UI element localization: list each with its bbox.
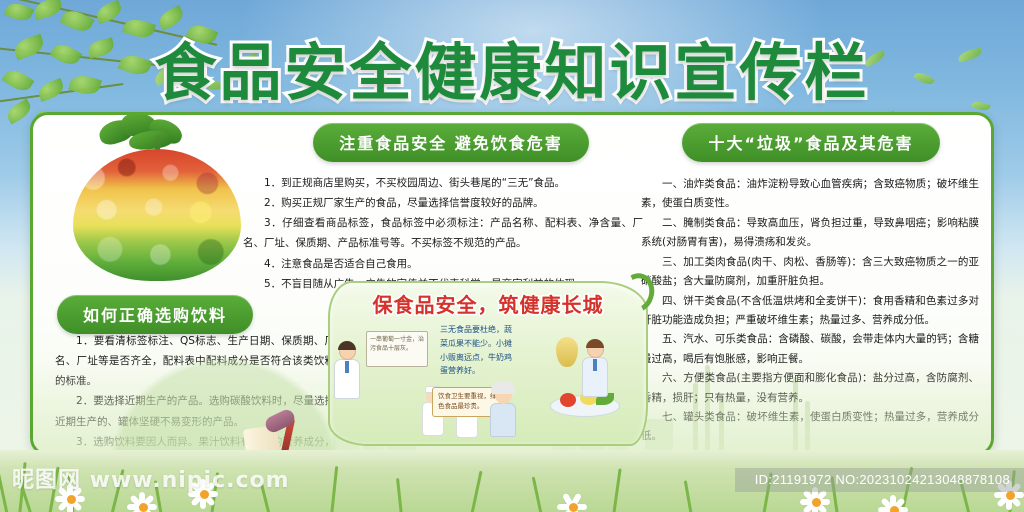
section1-body: 1．到正规商店里购买，不买校园周边、街头巷尾的“三无”食品。 2．购买正规厂家生… xyxy=(243,173,643,294)
section3-heading: 十大“垃圾”食品及其危害 xyxy=(682,123,939,162)
section1-item: 4．注意食品是否适合自己食用。 xyxy=(243,254,643,274)
left-column: 注重食品安全 避免饮食危害 1．到正规商店里购买，不买校园周边、街头巷尾的“三无… xyxy=(51,123,651,162)
section3-item: 六、方便类食品(主要指方便面和膨化食品)：盐分过高，含防腐剂、香精，损肝；只有热… xyxy=(641,369,979,408)
illustration-title: 保食品安全，筑健康长城 xyxy=(328,289,648,318)
section3-item: 四、饼干类食品(不含低温烘烤和全麦饼干)：食用香精和色素过多对肝脏功能造成负担；… xyxy=(641,292,979,331)
doctor-figure-left xyxy=(332,343,362,401)
section3-body: 一、油炸类食品：油炸淀粉导致心血管疾病；含致癌物质；破坏维生素，使蛋白质变性。 … xyxy=(641,175,979,456)
section1-item: 2．购买正规厂家生产的食品，尽量选择信誉度较好的品牌。 xyxy=(243,193,643,213)
section3-item: 五、汽水、可乐类食品：含磷酸、碳酸，会带走体内大量的钙；含糖量过高，喝后有饱胀感… xyxy=(641,330,979,369)
fruit-vegetable-apple-image xyxy=(59,117,249,292)
section2-heading-row: 如何正确选购饮料 xyxy=(57,295,253,334)
right-column: 十大“垃圾”食品及其危害 一、油炸类食品：油炸淀粉导致心血管疾病；含致癌物质；破… xyxy=(641,123,981,162)
section1-item: 3．仔细查看商品标签，食品标签中必须标注：产品名称、配料表、净含量、厂名、厂址、… xyxy=(243,213,643,253)
illustration-whiteboard: 一串葡萄一寸金，治污食品十层灰。 xyxy=(366,331,428,367)
content-board: 注重食品安全 避免饮食危害 1．到正规商店里购买，不买校园周边、街头巷尾的“三无… xyxy=(30,112,994,456)
section1-heading-row: 注重食品安全 避免饮食危害 xyxy=(251,123,651,162)
section3-item: 一、油炸类食品：油炸淀粉导致心血管疾病；含致癌物质；破坏维生素，使蛋白质变性。 xyxy=(641,175,979,214)
tomato-icon xyxy=(560,393,576,407)
poster-canvas: 食品安全健康知识宣传栏 xyxy=(0,0,1024,512)
section3-heading-row: 十大“垃圾”食品及其危害 xyxy=(641,123,981,162)
section1-heading: 注重食品安全 避免饮食危害 xyxy=(313,123,589,162)
image-id-label: ID:21191972 NO:20231024213048878108 xyxy=(735,468,1024,492)
fruit-mound xyxy=(73,149,241,281)
section2-heading: 如何正确选购饮料 xyxy=(57,295,253,334)
illustration-poem: 三无食品要杜绝，蔬菜瓜果不能少。小摊小贩离远点，牛奶鸡蛋营养好。 xyxy=(440,323,518,378)
poster-title: 食品安全健康知识宣传栏 xyxy=(154,22,869,112)
pear-icon xyxy=(556,337,578,367)
daisy-flower-icon xyxy=(880,496,908,512)
daisy-flower-icon xyxy=(560,494,586,512)
site-watermark: 昵图网 www.nipic.com xyxy=(12,462,290,494)
doctor-figure-right xyxy=(580,341,610,399)
center-illustration: 保食品安全，筑健康长城 一串葡萄一寸金，治污食品十层灰。 三无食品要杜绝，蔬菜瓜… xyxy=(328,281,648,446)
section3-item: 七、罐头类食品：破坏维生素，使蛋白质变性；热量过多，营养成分低。 xyxy=(641,408,979,447)
section2-item: 1．要看清标签标注、QS标志、生产日期、保质期、厂名、厂址等是否齐全，配料表中配… xyxy=(55,331,335,391)
poster-title-container: 食品安全健康知识宣传栏 xyxy=(0,22,1024,112)
section1-item: 1．到正规商店里购买，不买校园周边、街头巷尾的“三无”食品。 xyxy=(243,173,643,193)
elderly-figure xyxy=(488,381,518,437)
section3-item: 二、腌制类食品：导致高血压，肾负担过重，导致鼻咽癌；影响粘膜系统(对肠胃有害)，… xyxy=(641,214,979,253)
section3-item: 三、加工类肉食品(肉干、肉松、香肠等)：含三大致癌物质之一的亚硝酸盐；含大量防腐… xyxy=(641,253,979,292)
